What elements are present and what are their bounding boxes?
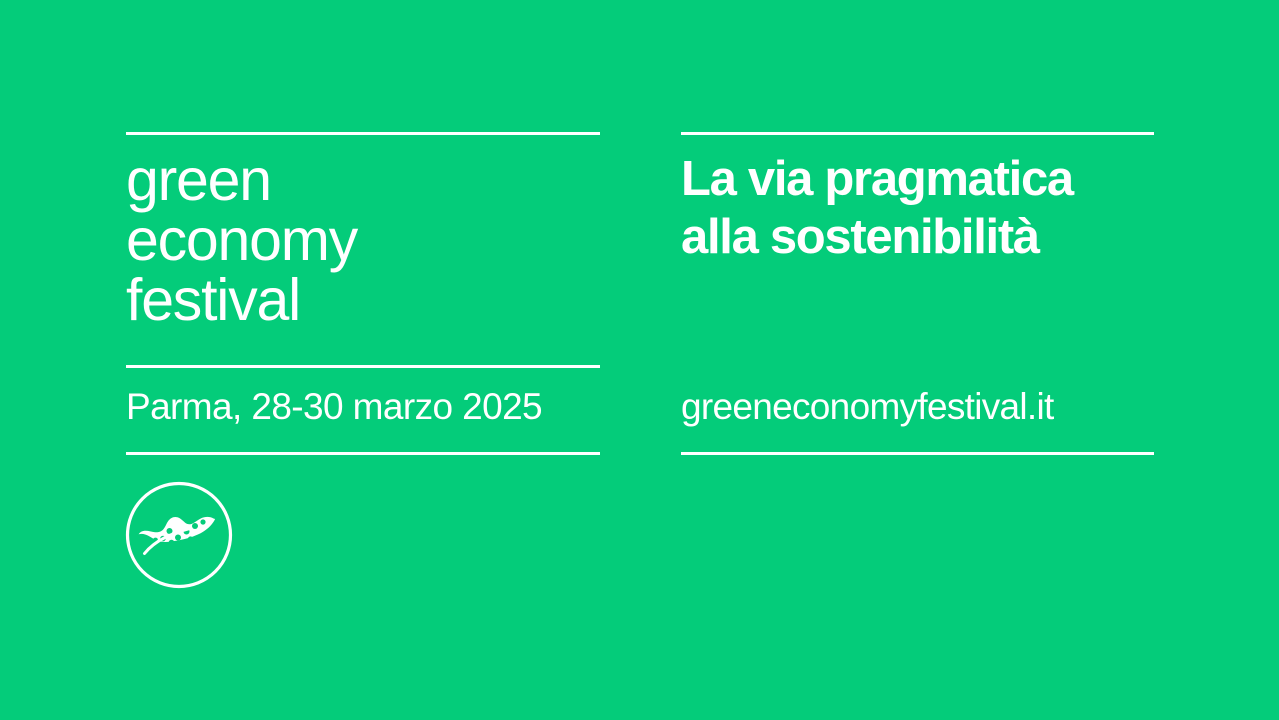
left-middle-divider	[126, 365, 600, 368]
right-column: La via pragmatica alla sostenibilità gre…	[681, 0, 1154, 720]
festival-title-line-3: festival	[126, 270, 606, 330]
poster-canvas: green economy festival Parma, 28-30 marz…	[0, 0, 1279, 720]
left-bottom-divider	[126, 452, 600, 455]
festival-title-line-2: economy	[126, 210, 606, 270]
website-link[interactable]: greeneconomyfestival.it	[681, 385, 1054, 429]
left-column: green economy festival Parma, 28-30 marz…	[126, 0, 600, 720]
leaf-circle-logo-icon	[125, 481, 233, 589]
right-top-divider	[681, 132, 1154, 135]
tagline-line-1: La via pragmatica	[681, 150, 1171, 208]
tagline: La via pragmatica alla sostenibilità	[681, 150, 1171, 266]
left-top-divider	[126, 132, 600, 135]
festival-title: green economy festival	[126, 150, 606, 330]
tagline-line-2: alla sostenibilità	[681, 208, 1171, 266]
festival-title-line-1: green	[126, 150, 606, 210]
right-bottom-divider	[681, 452, 1154, 455]
event-date: Parma, 28-30 marzo 2025	[126, 385, 542, 429]
